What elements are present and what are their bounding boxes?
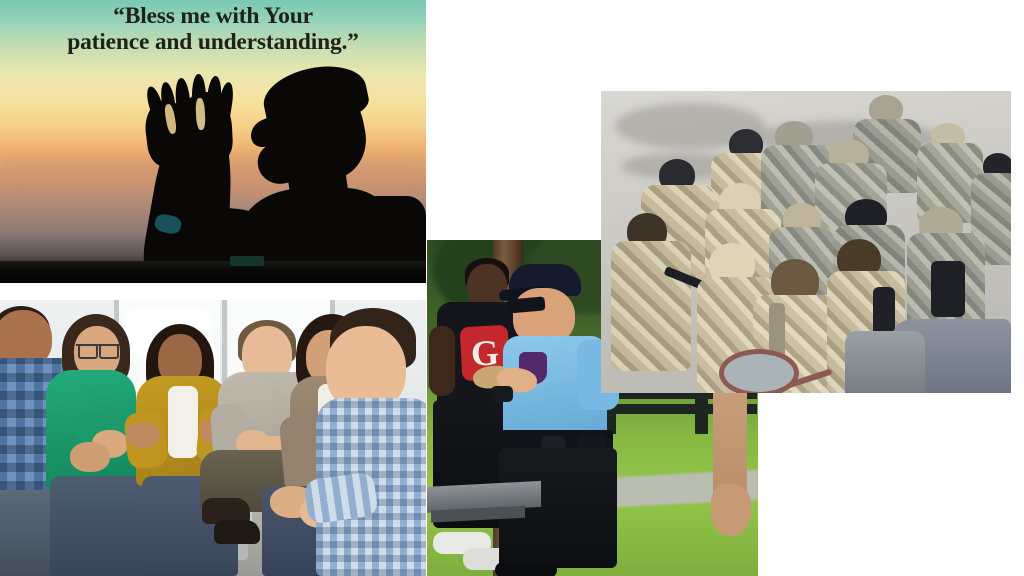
quote-line-1: “Bless me with Your: [0, 3, 426, 29]
vehicle-side-mirror: [719, 349, 799, 393]
sunset-horizon-line: [0, 261, 426, 283]
soldiers-prayer-circle-photo: [601, 91, 1011, 393]
arm: [429, 326, 455, 396]
eyeglasses-icon: [78, 344, 98, 359]
shoe: [495, 562, 557, 576]
shoe: [214, 520, 260, 544]
reaching-hand: [711, 484, 751, 536]
park-bench-leg: [695, 398, 708, 434]
quote-line-2: patience and understanding.”: [0, 29, 426, 55]
stone-picnic-table: [427, 481, 541, 513]
black-gear-strap: [931, 261, 965, 317]
hand: [126, 422, 160, 448]
quote-overlay-text: “Bless me with Your patience and underst…: [0, 0, 426, 56]
inner-white-top: [168, 386, 198, 458]
hand: [70, 442, 110, 472]
slide-canvas: “Bless me with Your patience and underst…: [0, 0, 1024, 576]
folding-chair: [845, 331, 925, 393]
uniform-desert: [611, 241, 691, 371]
wristband: [491, 386, 513, 402]
praying-man-sunset-photo: “Bless me with Your patience and underst…: [0, 0, 426, 283]
eyeglasses-icon: [99, 344, 119, 359]
support-group-holding-hands-photo: [0, 300, 426, 576]
